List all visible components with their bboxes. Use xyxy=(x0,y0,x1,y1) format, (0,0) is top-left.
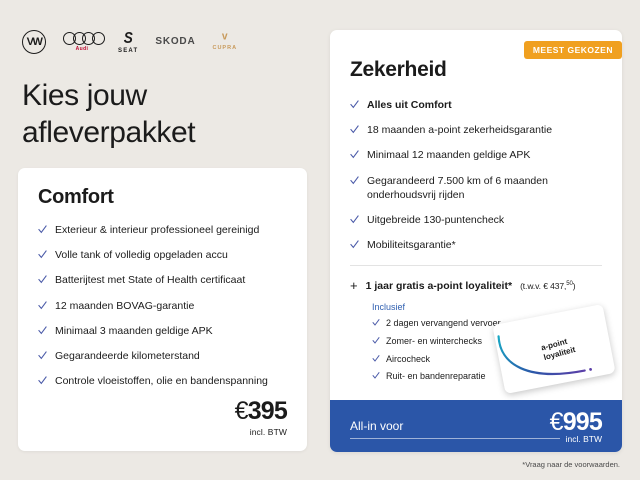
comfort-feature-list: Exterieur & interieur professioneel gere… xyxy=(38,223,287,388)
promo-page: VW Audi S SEAT SKODA ᵛ CUPRA Kies jouw a… xyxy=(0,0,640,480)
list-item-label: 18 maanden a-point zekerheidsgarantie xyxy=(367,123,552,137)
package-card-zekerheid[interactable]: MEEST GEKOZEN Zekerheid Alles uit Comfor… xyxy=(330,30,622,452)
skoda-wordmark: SKODA xyxy=(155,37,195,47)
bonus-row: + 1 jaar gratis a-point loyaliteit* (t.w… xyxy=(350,278,602,292)
allin-label: All-in voor xyxy=(350,419,403,433)
bonus-value-suffix: ) xyxy=(573,281,576,291)
audi-logo-icon: Audi xyxy=(63,32,101,52)
seat-logo-icon: S SEAT xyxy=(118,31,138,54)
comfort-price-amount: 395 xyxy=(248,397,287,425)
comfort-price-note: incl. BTW xyxy=(235,427,287,437)
allin-price-bar: All-in voor €995 incl. BTW xyxy=(330,400,622,452)
list-item: Uitgebreide 130-puntencheck xyxy=(350,213,602,227)
zekerheid-feature-list: Alles uit Comfort 18 maanden a-point zek… xyxy=(350,98,602,252)
comfort-price: €395 xyxy=(235,399,287,424)
list-item-label: Zomer- en winterchecks xyxy=(386,336,482,348)
section-divider xyxy=(350,265,602,266)
list-item-label: 2 dagen vervangend vervoer xyxy=(386,318,501,330)
list-item-label: Controle vloeistoffen, olie en bandenspa… xyxy=(55,374,268,388)
bonus-value-prefix: (t.w.v. € 437, xyxy=(520,281,566,291)
list-item: Minimaal 3 maanden geldige APK xyxy=(38,324,287,338)
skoda-logo-icon: SKODA xyxy=(155,37,195,47)
check-icon xyxy=(372,318,380,328)
list-item-label: Uitgebreide 130-puntencheck xyxy=(367,213,504,227)
seat-wordmark: SEAT xyxy=(118,48,138,54)
check-icon xyxy=(350,124,359,136)
check-icon xyxy=(38,350,47,362)
bonus-title: 1 jaar gratis a-point loyaliteit* xyxy=(366,280,512,292)
currency-symbol: € xyxy=(550,408,563,436)
page-title-line-1: Kies jouw xyxy=(22,78,195,115)
zekerheid-title: Zekerheid xyxy=(350,58,602,82)
comfort-title: Comfort xyxy=(38,186,287,209)
list-item-label: 12 maanden BOVAG-garantie xyxy=(55,299,194,313)
list-item: Gegarandeerde kilometerstand xyxy=(38,349,287,363)
allin-price-note: incl. BTW xyxy=(566,434,602,444)
list-item: Mobiliteitsgarantie* xyxy=(350,238,602,252)
list-item-label: Ruit- en bandenreparatie xyxy=(386,371,486,383)
brand-logo-bar: VW Audi S SEAT SKODA ᵛ CUPRA xyxy=(22,28,237,56)
list-item: Batterijtest met State of Health certifi… xyxy=(38,273,287,287)
check-icon xyxy=(372,336,380,346)
vw-mark: VW xyxy=(22,30,46,54)
cupra-wordmark: CUPRA xyxy=(212,46,237,52)
list-item-label: Gegarandeerde kilometerstand xyxy=(55,349,200,363)
check-icon xyxy=(38,375,47,387)
footnote: *Vraag naar de voorwaarden. xyxy=(522,460,620,469)
list-item: Gegarandeerd 7.500 km of 6 maanden onder… xyxy=(350,174,602,202)
check-icon xyxy=(350,239,359,251)
check-icon xyxy=(350,214,359,226)
list-item-label: Aircocheck xyxy=(386,354,430,366)
zekerheid-body: MEEST GEKOZEN Zekerheid Alles uit Comfor… xyxy=(330,30,622,400)
bonus-value: (t.w.v. € 437,50) xyxy=(520,281,575,291)
list-item-label: Minimaal 3 maanden geldige APK xyxy=(55,324,213,338)
check-icon xyxy=(372,371,380,381)
page-title-line-2: afleverpakket xyxy=(22,115,195,152)
allin-rule xyxy=(350,438,560,439)
audi-wordmark: Audi xyxy=(76,47,89,52)
check-icon xyxy=(350,149,359,161)
plus-icon: + xyxy=(350,279,358,292)
list-item: Minimaal 12 maanden geldige APK xyxy=(350,148,602,162)
cupra-logo-icon: ᵛ CUPRA xyxy=(212,33,237,52)
list-item-label: Alles uit Comfort xyxy=(367,98,452,112)
list-item-label: Mobiliteitsgarantie* xyxy=(367,238,456,252)
comfort-price-block: €395 incl. BTW xyxy=(235,399,287,437)
package-card-comfort[interactable]: Comfort Exterieur & interieur profession… xyxy=(18,168,307,451)
check-icon xyxy=(38,249,47,261)
zekerheid-price: €995 xyxy=(550,410,602,435)
page-title: Kies jouw afleverpakket xyxy=(22,78,195,152)
list-item-label: Batterijtest met State of Health certifi… xyxy=(55,273,245,287)
list-item: Alles uit Comfort xyxy=(350,98,602,112)
allin-top-row: All-in voor €995 xyxy=(350,400,602,435)
check-icon xyxy=(38,274,47,286)
zekerheid-price-amount: 995 xyxy=(563,408,602,436)
check-icon xyxy=(350,99,359,111)
list-item-label: Gegarandeerd 7.500 km of 6 maanden onder… xyxy=(367,174,592,202)
list-item: Exterieur & interieur professioneel gere… xyxy=(38,223,287,237)
check-icon xyxy=(38,300,47,312)
check-icon xyxy=(350,175,359,187)
list-item: 18 maanden a-point zekerheidsgarantie xyxy=(350,123,602,137)
volkswagen-logo-icon: VW xyxy=(22,30,46,54)
seat-mark: S xyxy=(124,31,132,47)
check-icon xyxy=(38,224,47,236)
list-item: Volle tank of volledig opgeladen accu xyxy=(38,248,287,262)
check-icon xyxy=(372,354,380,364)
list-item: Controle vloeistoffen, olie en bandenspa… xyxy=(38,374,287,388)
audi-rings-mark xyxy=(63,32,101,45)
list-item-label: Exterieur & interieur professioneel gere… xyxy=(55,223,259,237)
list-item-label: Volle tank of volledig opgeladen accu xyxy=(55,248,228,262)
status-badge: MEEST GEKOZEN xyxy=(524,41,622,59)
list-item-label: Minimaal 12 maanden geldige APK xyxy=(367,148,530,162)
check-icon xyxy=(38,325,47,337)
cupra-mark: ᵛ xyxy=(222,33,227,44)
currency-symbol: € xyxy=(235,397,248,425)
list-item: 12 maanden BOVAG-garantie xyxy=(38,299,287,313)
